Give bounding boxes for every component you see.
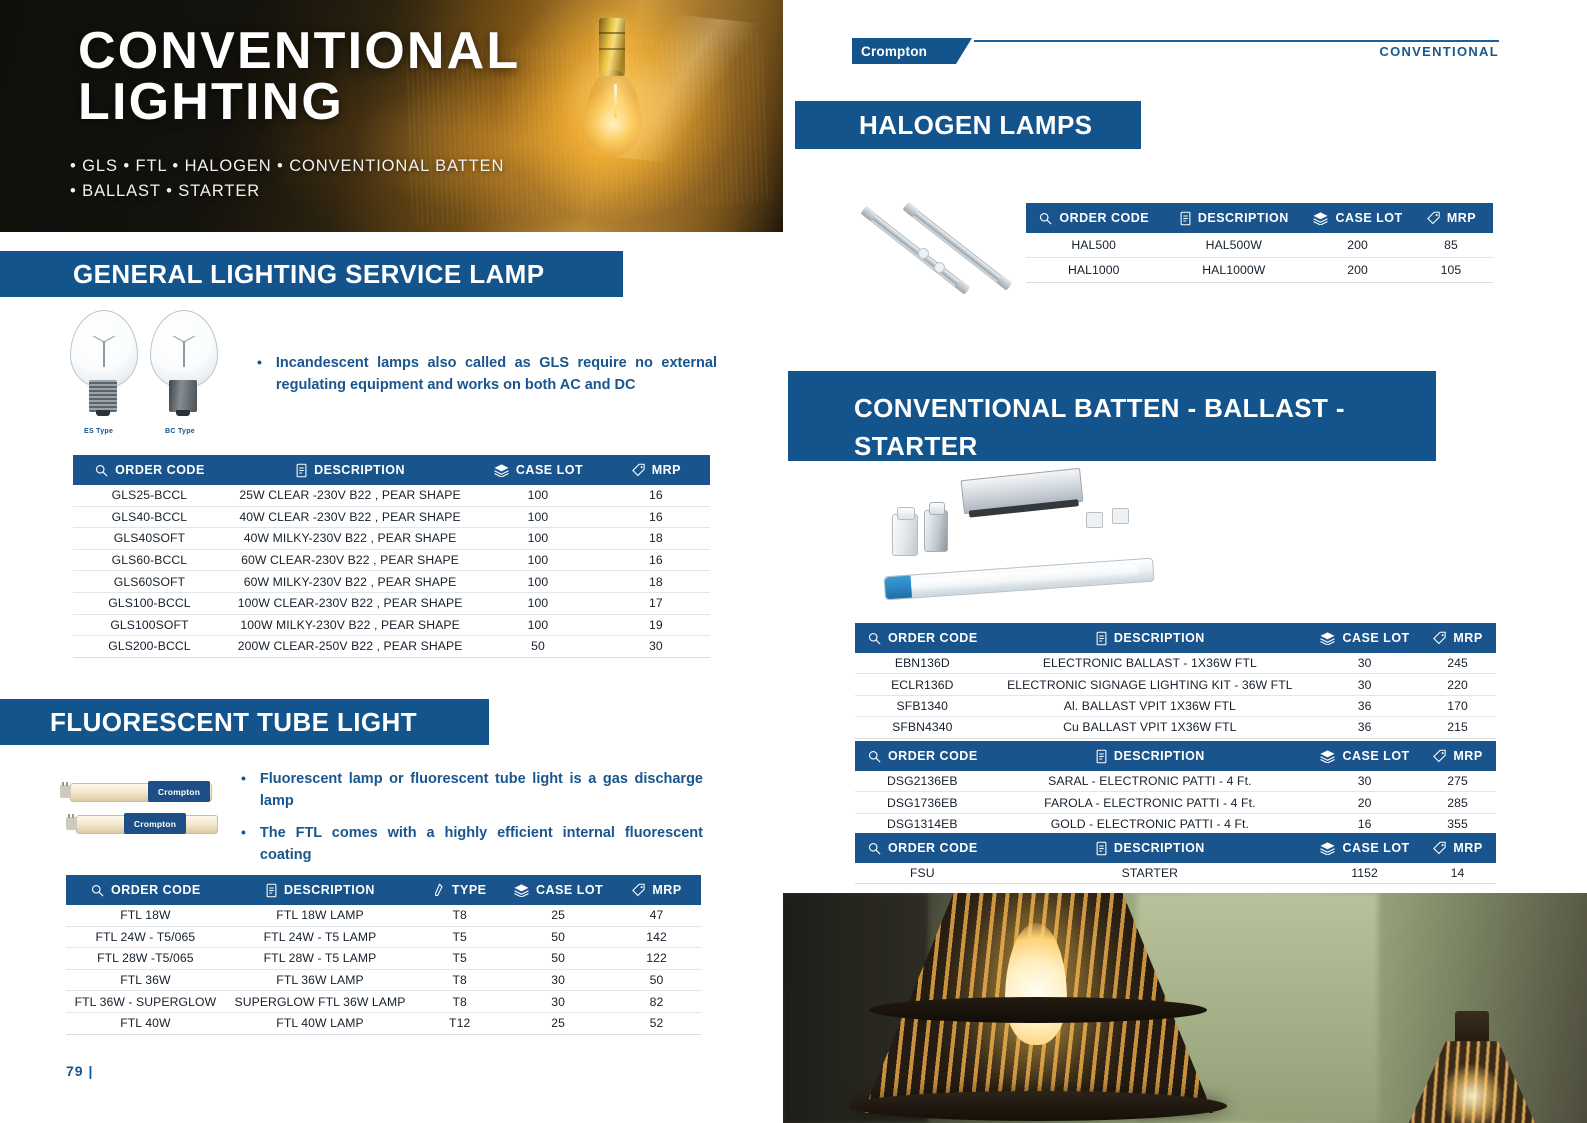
table-cell: GLS100SOFT [73,614,226,636]
bc-type-label: BC Type [165,428,195,435]
table-cell: 122 [612,948,701,970]
section-title-gls: GENERAL LIGHTING SERVICE LAMP [0,251,623,297]
table-cell: 30 [504,991,612,1013]
layers-icon [513,883,530,897]
brand-tab-arrow [956,38,972,64]
table-cell: 25W CLEAR -230V B22 , PEAR SHAPE [226,485,474,506]
col-description-label: DESCRIPTION [1114,841,1205,855]
gls-bulb-illustration: ES Type BC Type [70,310,240,442]
bullet-dot-icon: • [257,352,262,397]
col-mrp-label: MRP [1453,841,1482,855]
price-tag-icon [1432,749,1447,764]
table-cell: 60W CLEAR-230V B22 , PEAR SHAPE [226,549,474,571]
table-cell: 16 [602,506,710,528]
document-icon [1095,841,1108,856]
table-cell: Cu BALLAST VPIT 1X36W FTL [990,717,1311,738]
photo-second-lamp-cap [1455,1011,1489,1045]
table-cell: 18 [602,571,710,593]
col-case-lot-label: CASE LOT [516,463,583,477]
hero-subtitle: • GLS • FTL • HALOGEN • CONVENTIONAL BAT… [70,154,504,204]
table-cell: 200 [1306,258,1409,283]
table-cell: SARAL - ELECTRONIC PATTI - 4 Ft. [990,771,1311,792]
col-case-lot-label: CASE LOT [1335,211,1402,225]
table-cell: FSU [855,863,990,884]
table-cell: HAL1000 [1026,258,1161,283]
col-order-code: ORDER CODE [66,875,225,905]
col-mrp-label: MRP [652,463,681,477]
table-row: DSG1736EBFAROLA - ELECTRONIC PATTI - 4 F… [855,792,1496,813]
table-cell: 30 [602,636,710,658]
col-description: DESCRIPTION [990,623,1311,653]
table-cell: 245 [1419,653,1496,674]
bc-bulb-tip [176,410,190,416]
wire-connector-2 [1112,508,1129,524]
table-cell: 19 [602,614,710,636]
table-row: GLS100SOFT100W MILKY-230V B22 , PEAR SHA… [73,614,710,636]
table-cell: 30 [504,969,612,991]
batten-fixture [883,558,1154,601]
table-cell: T8 [415,905,504,926]
table-cell: 17 [602,592,710,614]
table-row: DSG1314EBGOLD - ELECTRONIC PATTI - 4 Ft.… [855,813,1496,834]
table-cell: 50 [612,969,701,991]
ballast-products-table: ORDER CODE DESCRIPTION CASE LOT MRP EBN1… [855,623,1496,739]
table-cell: 18 [602,528,710,550]
es-type-bulb [70,310,136,405]
table-cell: FTL 18W LAMP [225,905,416,926]
section-title-halogen: HALOGEN LAMPS [795,101,1141,149]
table-row: EBN136DELECTRONIC BALLAST - 1X36W FTL302… [855,653,1496,674]
col-order-code: ORDER CODE [1026,203,1161,233]
table-cell: FTL 36W LAMP [225,969,416,991]
table-cell: 16 [602,485,710,506]
table-cell: ECLR136D [855,674,990,695]
bullet-dot-icon: • [241,822,246,867]
table-cell: FTL 40W [66,1012,225,1034]
table-cell: GLS100-BCCL [73,592,226,614]
col-order-code: ORDER CODE [855,623,990,653]
table-cell: 36 [1310,717,1419,738]
table-cell: STARTER [990,863,1311,884]
price-tag-icon [1432,841,1447,856]
col-mrp: MRP [1409,203,1493,233]
table-row: FTL 28W -T5/065FTL 28W - T5 LAMPT550122 [66,948,701,970]
col-mrp: MRP [612,875,701,905]
table-cell: 105 [1409,258,1493,283]
table-cell: 85 [1409,233,1493,258]
col-description-label: DESCRIPTION [1114,631,1205,645]
table-cell: DSG2136EB [855,771,990,792]
table-header-row: ORDER CODE DESCRIPTION TYPE CASE LOT MRP [66,875,701,905]
bullet-dot-icon: • [241,768,246,813]
table-cell: 50 [474,636,601,658]
page-number: 79 | [66,1063,93,1079]
batten-tube [911,564,1139,593]
section-title-batten-label: CONVENTIONAL BATTEN - BALLAST - STARTER [788,371,1345,465]
photo-lamp-inner-rim [869,997,1207,1023]
col-description-label: DESCRIPTION [314,463,405,477]
table-cell: 82 [612,991,701,1013]
col-type: TYPE [415,875,504,905]
hanging-bulb-image [575,18,655,188]
table-cell: 40W CLEAR -230V B22 , PEAR SHAPE [226,506,474,528]
table-row: HAL1000HAL1000W200105 [1026,258,1493,283]
table-header-row: ORDER CODE DESCRIPTION CASE LOT MRP [1026,203,1493,233]
col-mrp-label: MRP [1453,749,1482,763]
table-header-row: ORDER CODE DESCRIPTION CASE LOT MRP [855,833,1496,863]
table-cell: 215 [1419,717,1496,738]
bc-bulb-cap [169,380,197,412]
table-cell: 142 [612,926,701,948]
bulb-filament [614,84,617,118]
photo-second-lamp-glow [1443,1063,1501,1123]
table-cell: 285 [1419,792,1496,813]
wire-connector-1 [1086,512,1103,528]
table-cell: 100 [474,614,601,636]
table-row: GLS60SOFT60W MILKY-230V B22 , PEAR SHAPE… [73,571,710,593]
magnifier-icon [1038,211,1053,226]
ftl-tube-2-pin [66,817,77,830]
col-mrp: MRP [602,455,710,485]
col-case-lot: CASE LOT [474,455,601,485]
section-title-batten: CONVENTIONAL BATTEN - BALLAST - STARTER [788,371,1436,461]
col-order-code-label: ORDER CODE [1059,211,1149,225]
table-row: FTL 24W - T5/065FTL 24W - T5 LAMPT550142 [66,926,701,948]
table-cell: 100 [474,592,601,614]
col-description: DESCRIPTION [990,833,1311,863]
electronic-ballast-box [961,468,1084,514]
table-cell: SFB1340 [855,695,990,716]
table-row: FSUSTARTER115214 [855,863,1496,884]
table-row: FTL 36WFTL 36W LAMPT83050 [66,969,701,991]
col-case-lot-label: CASE LOT [1342,631,1409,645]
table-row: GLS40-BCCL40W CLEAR -230V B22 , PEAR SHA… [73,506,710,528]
table-cell: GLS200-BCCL [73,636,226,658]
halogen-bead-2 [934,262,945,273]
price-tag-icon [631,883,646,898]
starter-unit [924,510,948,552]
table-row: FTL 18WFTL 18W LAMPT82547 [66,905,701,926]
ftl-bullet-list: • Fluorescent lamp or fluorescent tube l… [241,768,703,876]
table-cell: T5 [415,926,504,948]
table-cell: 200W CLEAR-250V B22 , PEAR SHAPE [226,636,474,658]
col-order-code-label: ORDER CODE [111,883,201,897]
page-title: CONVENTIONAL LIGHTING [78,26,520,129]
col-description: DESCRIPTION [225,875,416,905]
ftl-tube-2: Crompton [66,813,216,834]
table-cell: HAL500W [1161,233,1306,258]
ballast-kit-illustration [880,472,1170,612]
price-tag-icon [1426,211,1441,226]
ftl-bullet-2: The FTL comes with a highly efficient in… [260,822,703,867]
brand-name: Crompton [861,44,927,59]
layers-icon [1319,749,1336,763]
table-cell: EBN136D [855,653,990,674]
col-order-code-label: ORDER CODE [115,463,205,477]
col-case-lot: CASE LOT [1310,833,1419,863]
ftl-tube-2-brand: Crompton [124,813,186,834]
bc-bulb-glass [150,310,218,388]
es-type-label: ES Type [84,428,113,435]
table-cell: 30 [1310,771,1419,792]
table-cell: 50 [504,948,612,970]
col-mrp-label: MRP [652,883,681,897]
table-cell: DSG1736EB [855,792,990,813]
col-mrp: MRP [1419,741,1496,771]
table-cell: T8 [415,991,504,1013]
table-row: GLS40SOFT40W MILKY-230V B22 , PEAR SHAPE… [73,528,710,550]
section-title-ftl: FLUORESCENT TUBE LIGHT [0,699,489,745]
table-cell: 20 [1310,792,1419,813]
price-tag-icon [631,463,646,478]
photo-lamp-rim [849,1091,1227,1121]
starter-holder [892,514,918,556]
table-cell: HAL1000W [1161,258,1306,283]
col-mrp: MRP [1419,623,1496,653]
table-cell: FTL 36W [66,969,225,991]
col-case-lot-label: CASE LOT [1342,749,1409,763]
table-cell: FTL 24W - T5/065 [66,926,225,948]
document-icon [1179,211,1192,226]
price-tag-icon [1432,631,1447,646]
bc-type-bulb [150,310,216,405]
magnifier-icon [867,749,882,764]
col-description-label: DESCRIPTION [1198,211,1289,225]
col-order-code-label: ORDER CODE [888,749,978,763]
magnifier-icon [867,841,882,856]
table-cell: 100 [474,571,601,593]
col-description: DESCRIPTION [1161,203,1306,233]
table-cell: FTL 24W - T5 LAMP [225,926,416,948]
table-cell: Al. BALLAST VPIT 1X36W FTL [990,695,1311,716]
table-cell: GLS40SOFT [73,528,226,550]
gls-bullet-1: Incandescent lamps also called as GLS re… [276,352,717,397]
table-cell: FTL 28W -T5/065 [66,948,225,970]
col-case-lot: CASE LOT [1310,623,1419,653]
table-cell: SUPERGLOW FTL 36W LAMP [225,991,416,1013]
layers-icon [493,463,510,477]
table-cell: 36 [1310,695,1419,716]
table-cell: GLS25-BCCL [73,485,226,506]
table-cell: 1152 [1310,863,1419,884]
col-case-lot-label: CASE LOT [536,883,603,897]
section-title-halogen-label: HALOGEN LAMPS [795,110,1092,141]
pendant-lamp-photo [783,893,1587,1123]
table-cell: GOLD - ELECTRONIC PATTI - 4 Ft. [990,813,1311,834]
table-header-row: ORDER CODE DESCRIPTION CASE LOT MRP [855,741,1496,771]
table-cell: ELECTRONIC SIGNAGE LIGHTING KIT - 36W FT… [990,674,1311,695]
table-row: GLS200-BCCL200W CLEAR-250V B22 , PEAR SH… [73,636,710,658]
document-icon [265,883,278,898]
table-cell: T12 [415,1012,504,1034]
table-cell: 100 [474,506,601,528]
table-cell: FTL 40W LAMP [225,1012,416,1034]
table-row: DSG2136EBSARAL - ELECTRONIC PATTI - 4 Ft… [855,771,1496,792]
table-cell: 30 [1310,653,1419,674]
table-cell: 275 [1419,771,1496,792]
table-row: FTL 40WFTL 40W LAMPT122552 [66,1012,701,1034]
table-cell: 220 [1419,674,1496,695]
table-header-row: ORDER CODE DESCRIPTION CASE LOT MRP [855,623,1496,653]
col-case-lot-label: CASE LOT [1342,841,1409,855]
magnifier-icon [867,631,882,646]
table-cell: GLS60SOFT [73,571,226,593]
table-cell: SFBN4340 [855,717,990,738]
table-cell: 40W MILKY-230V B22 , PEAR SHAPE [226,528,474,550]
document-icon [295,463,308,478]
col-order-code-label: ORDER CODE [888,841,978,855]
table-cell: 16 [602,549,710,571]
ftl-tube-illustration: Crompton Crompton [60,775,235,847]
table-cell: 16 [1310,813,1419,834]
col-order-code-label: ORDER CODE [888,631,978,645]
table-cell: FTL 36W - SUPERGLOW [66,991,225,1013]
table-cell: HAL500 [1026,233,1161,258]
table-cell: T5 [415,948,504,970]
pen-icon [433,883,446,898]
halogen-lamp-illustration [862,190,1027,305]
table-cell: DSG1314EB [855,813,990,834]
ftl-tube-1-pin [60,785,71,798]
col-case-lot: CASE LOT [504,875,612,905]
layers-icon [1312,211,1329,225]
table-cell: 47 [612,905,701,926]
col-mrp: MRP [1419,833,1496,863]
col-case-lot: CASE LOT [1306,203,1409,233]
list-item: • The FTL comes with a highly efficient … [241,822,703,867]
col-description: DESCRIPTION [990,741,1311,771]
col-description: DESCRIPTION [226,455,474,485]
table-row: HAL500HAL500W20085 [1026,233,1493,258]
table-cell: 100W MILKY-230V B22 , PEAR SHAPE [226,614,474,636]
table-cell: 100 [474,549,601,571]
table-cell: 200 [1306,233,1409,258]
table-row: ECLR136DELECTRONIC SIGNAGE LIGHTING KIT … [855,674,1496,695]
section-title-gls-label: GENERAL LIGHTING SERVICE LAMP [0,259,544,290]
table-header-row: ORDER CODE DESCRIPTION CASE LOT MRP [73,455,710,485]
header-rule [974,40,1499,42]
table-cell: 14 [1419,863,1496,884]
col-type-label: TYPE [452,883,487,897]
es-bulb-cap [89,380,117,412]
table-cell: 100W CLEAR-230V B22 , PEAR SHAPE [226,592,474,614]
table-cell: 355 [1419,813,1496,834]
brand-tab: Crompton [852,38,956,64]
magnifier-icon [94,463,109,478]
es-bulb-filament [103,341,105,367]
header-category-label: CONVENTIONAL [1379,44,1499,59]
ftl-tube-1-brand: Crompton [148,781,210,802]
table-row: GLS100-BCCL100W CLEAR-230V B22 , PEAR SH… [73,592,710,614]
table-row: FTL 36W - SUPERGLOWSUPERGLOW FTL 36W LAM… [66,991,701,1013]
layers-icon [1319,841,1336,855]
table-cell: 25 [504,1012,612,1034]
table-cell: 52 [612,1012,701,1034]
list-item: • Fluorescent lamp or fluorescent tube l… [241,768,703,813]
table-cell: ELECTRONIC BALLAST - 1X36W FTL [990,653,1311,674]
col-mrp-label: MRP [1453,631,1482,645]
patti-products-table: ORDER CODE DESCRIPTION CASE LOT MRP DSG2… [855,741,1496,835]
es-bulb-tip [96,410,110,416]
col-description-label: DESCRIPTION [284,883,375,897]
table-cell: 25 [504,905,612,926]
table-row: SFBN4340Cu BALLAST VPIT 1X36W FTL36215 [855,717,1496,738]
table-cell: 100 [474,528,601,550]
table-cell: 170 [1419,695,1496,716]
hero-banner: CONVENTIONAL LIGHTING • GLS • FTL • HALO… [0,0,783,232]
table-cell: T8 [415,969,504,991]
col-description-label: DESCRIPTION [1114,749,1205,763]
ftl-products-table: ORDER CODE DESCRIPTION TYPE CASE LOT MRP… [66,875,701,1035]
magnifier-icon [90,883,105,898]
table-row: GLS60-BCCL60W CLEAR-230V B22 , PEAR SHAP… [73,549,710,571]
table-row: GLS25-BCCL25W CLEAR -230V B22 , PEAR SHA… [73,485,710,506]
table-cell: FAROLA - ELECTRONIC PATTI - 4 Ft. [990,792,1311,813]
col-order-code: ORDER CODE [855,741,990,771]
col-case-lot: CASE LOT [1310,741,1419,771]
starter-products-table: ORDER CODE DESCRIPTION CASE LOT MRP FSUS… [855,833,1496,884]
section-title-ftl-label: FLUORESCENT TUBE LIGHT [0,707,417,738]
document-icon [1095,749,1108,764]
gls-products-table: ORDER CODE DESCRIPTION CASE LOT MRP GLS2… [73,455,710,658]
table-cell: GLS40-BCCL [73,506,226,528]
document-icon [1095,631,1108,646]
table-cell: FTL 18W [66,905,225,926]
table-cell: 30 [1310,674,1419,695]
halogen-products-table: ORDER CODE DESCRIPTION CASE LOT MRP HAL5… [1026,203,1493,283]
layers-icon [1319,631,1336,645]
es-bulb-glass [70,310,138,388]
ftl-tube-1: Crompton [60,781,210,802]
table-cell: FTL 28W - T5 LAMP [225,948,416,970]
bulb-cap [599,18,625,76]
photo-second-lamp [1401,1011,1541,1123]
table-cell: 50 [504,926,612,948]
col-order-code: ORDER CODE [73,455,226,485]
table-cell: GLS60-BCCL [73,549,226,571]
table-cell: 100 [474,485,601,506]
gls-bullet-list: • Incandescent lamps also called as GLS … [257,352,717,406]
list-item: • Incandescent lamps also called as GLS … [257,352,717,397]
col-order-code: ORDER CODE [855,833,990,863]
ftl-bullet-1: Fluorescent lamp or fluorescent tube lig… [260,768,703,813]
col-mrp-label: MRP [1447,211,1476,225]
halogen-bead-1 [918,248,929,259]
table-cell: 60W MILKY-230V B22 , PEAR SHAPE [226,571,474,593]
table-row: SFB1340Al. BALLAST VPIT 1X36W FTL36170 [855,695,1496,716]
bc-bulb-filament [183,341,185,367]
